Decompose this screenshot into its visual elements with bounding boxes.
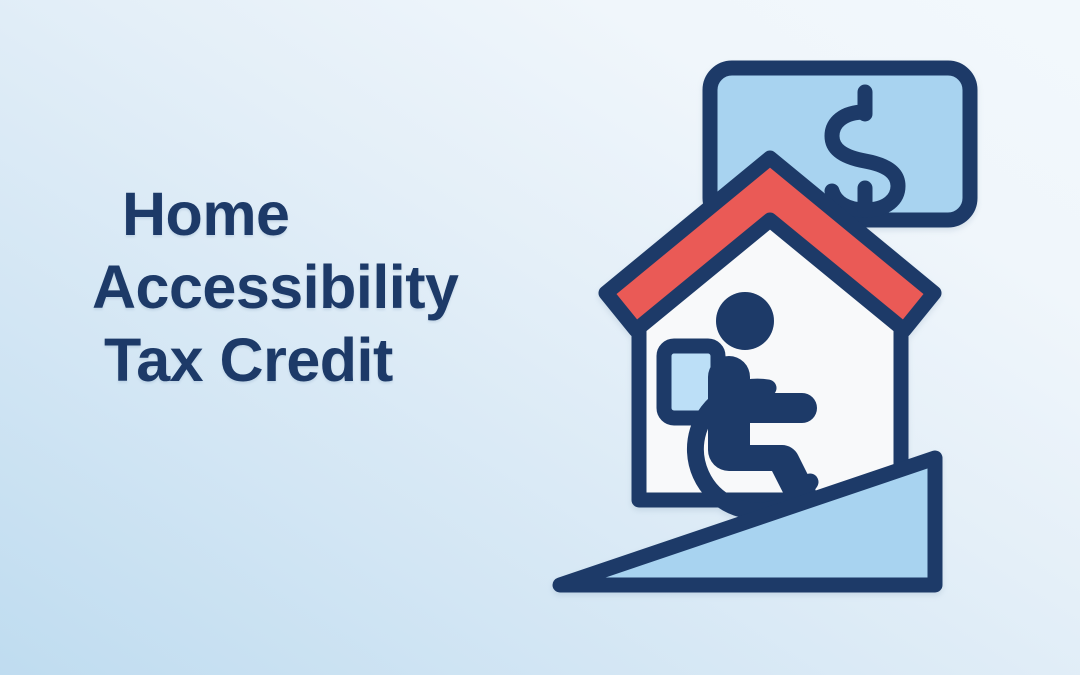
illustration — [530, 40, 1010, 620]
banner-graphic: Home Accessibility Tax Credit — [0, 0, 1080, 675]
page-title: Home Accessibility Tax Credit — [92, 178, 592, 397]
headline-line-1: Home — [122, 178, 592, 251]
headline-line-2: Accessibility — [92, 251, 592, 324]
headline-line-3: Tax Credit — [104, 324, 592, 397]
